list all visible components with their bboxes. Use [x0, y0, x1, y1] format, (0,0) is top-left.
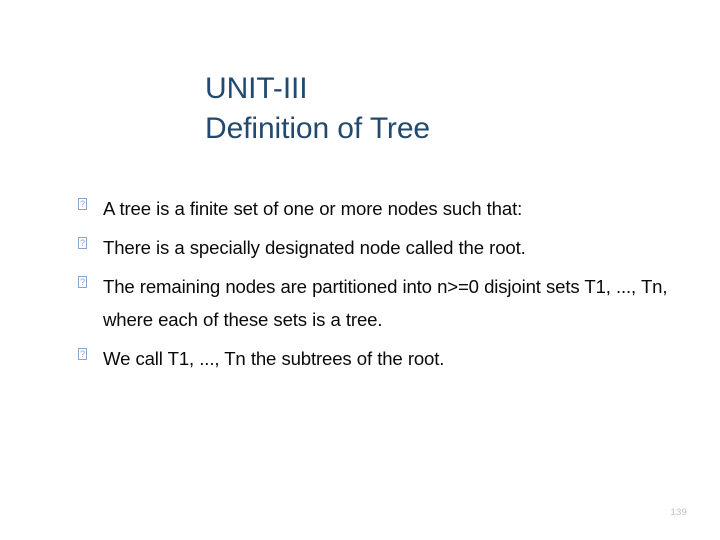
bullet-marker-icon [78, 270, 103, 288]
bullet-list-item: There is a specially designated node cal… [78, 231, 678, 264]
presentation-slide: UNIT-III Definition of Tree A tree is a … [0, 0, 720, 540]
bullet-list-item-text: The remaining nodes are partitioned into… [103, 270, 678, 336]
slide-title: UNIT-III Definition of Tree [205, 69, 675, 149]
slide-body-bullet-list: A tree is a finite set of one or more no… [78, 192, 678, 381]
slide-title-line-2: Definition of Tree [205, 109, 675, 149]
bullet-list-item-text: There is a specially designated node cal… [103, 231, 678, 264]
slide-title-line-1: UNIT-III [205, 69, 675, 109]
bullet-list-item: A tree is a finite set of one or more no… [78, 192, 678, 225]
bullet-list-item: The remaining nodes are partitioned into… [78, 270, 678, 336]
bullet-list-item: We call T1, ..., Tn the subtrees of the … [78, 342, 678, 375]
bullet-list-item-text: We call T1, ..., Tn the subtrees of the … [103, 342, 678, 375]
bullet-marker-icon [78, 192, 103, 210]
bullet-marker-icon [78, 342, 103, 360]
bullet-marker-icon [78, 231, 103, 249]
bullet-list-item-text: A tree is a finite set of one or more no… [103, 192, 678, 225]
slide-page-number: 139 [671, 507, 687, 519]
